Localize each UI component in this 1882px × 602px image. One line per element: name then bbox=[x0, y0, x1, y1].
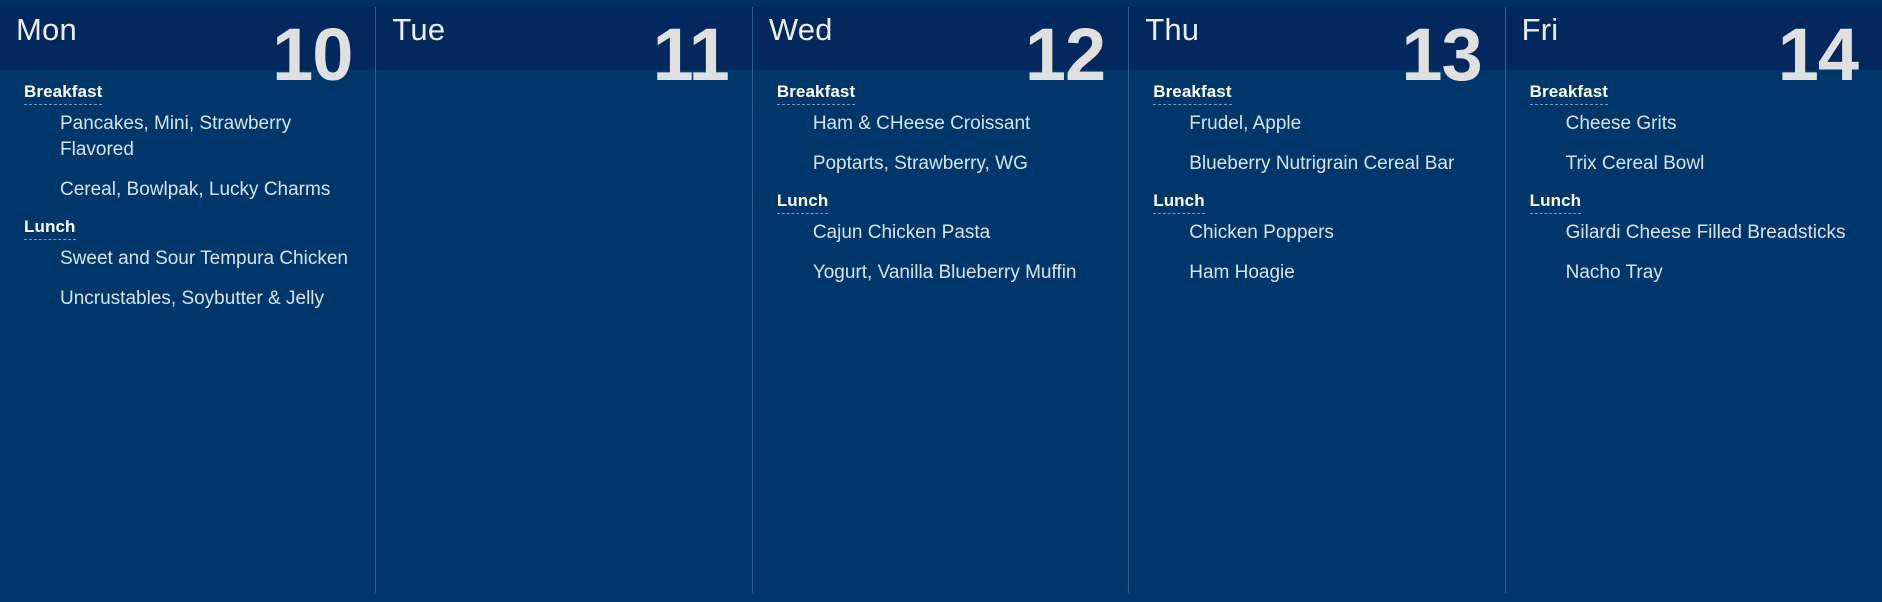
meal-block: BreakfastFrudel, AppleBlueberry Nutrigra… bbox=[1153, 82, 1491, 177]
meal-block: BreakfastPancakes, Mini, Strawberry Flav… bbox=[24, 82, 362, 203]
column-divider bbox=[752, 7, 753, 593]
day-number-label: 12 bbox=[1025, 18, 1105, 92]
menu-item: Cheese Grits bbox=[1530, 111, 1868, 137]
menu-item: Uncrustables, Soybutter & Jelly bbox=[24, 286, 362, 312]
menu-item: Ham Hoagie bbox=[1153, 260, 1491, 286]
week-menu-calendar: Mon10BreakfastPancakes, Mini, Strawberry… bbox=[0, 0, 1882, 602]
meals-container: BreakfastHam & CHeese CroissantPoptarts,… bbox=[753, 82, 1129, 300]
menu-item: Yogurt, Vanilla Blueberry Muffin bbox=[777, 260, 1115, 286]
day-name-label: Thu bbox=[1145, 12, 1199, 48]
day-number-label: 11 bbox=[653, 18, 729, 92]
day-name-label: Mon bbox=[16, 12, 77, 48]
meal-title: Breakfast bbox=[1153, 82, 1231, 105]
meal-title: Breakfast bbox=[777, 82, 855, 105]
menu-item: Gilardi Cheese Filled Breadsticks bbox=[1530, 220, 1868, 246]
menu-item: Cajun Chicken Pasta bbox=[777, 220, 1115, 246]
day-name-label: Wed bbox=[769, 12, 833, 48]
day-column-thu[interactable]: Thu13BreakfastFrudel, AppleBlueberry Nut… bbox=[1129, 0, 1505, 602]
meal-title: Breakfast bbox=[1530, 82, 1608, 105]
menu-item: Poptarts, Strawberry, WG bbox=[777, 151, 1115, 177]
meal-title: Lunch bbox=[1153, 191, 1205, 214]
menu-item-list: Frudel, AppleBlueberry Nutrigrain Cereal… bbox=[1153, 111, 1491, 177]
meal-block: LunchChicken PoppersHam Hoagie bbox=[1153, 191, 1491, 286]
column-divider bbox=[1505, 7, 1506, 593]
menu-item: Pancakes, Mini, Strawberry Flavored bbox=[24, 111, 362, 163]
day-name-label: Fri bbox=[1522, 12, 1559, 48]
meals-container: BreakfastCheese GritsTrix Cereal BowlLun… bbox=[1506, 82, 1882, 300]
meals-container: BreakfastFrudel, AppleBlueberry Nutrigra… bbox=[1129, 82, 1505, 300]
column-divider bbox=[1128, 7, 1129, 593]
meal-block: LunchSweet and Sour Tempura ChickenUncru… bbox=[24, 217, 362, 312]
menu-item-list: Sweet and Sour Tempura ChickenUncrustabl… bbox=[24, 246, 362, 312]
menu-item-list: Cajun Chicken PastaYogurt, Vanilla Blueb… bbox=[777, 220, 1115, 286]
day-column-tue[interactable]: Tue11 bbox=[376, 0, 752, 602]
menu-item: Trix Cereal Bowl bbox=[1530, 151, 1868, 177]
menu-item-list: Pancakes, Mini, Strawberry FlavoredCerea… bbox=[24, 111, 362, 203]
day-number-label: 10 bbox=[272, 18, 352, 92]
day-column-fri[interactable]: Fri14BreakfastCheese GritsTrix Cereal Bo… bbox=[1506, 0, 1882, 602]
menu-item-list: Ham & CHeese CroissantPoptarts, Strawber… bbox=[777, 111, 1115, 177]
day-number-label: 13 bbox=[1401, 18, 1481, 92]
meal-title: Breakfast bbox=[24, 82, 102, 105]
menu-item-list: Chicken PoppersHam Hoagie bbox=[1153, 220, 1491, 286]
meal-title: Lunch bbox=[24, 217, 76, 240]
top-edge-strip bbox=[0, 0, 1882, 7]
meal-block: BreakfastCheese GritsTrix Cereal Bowl bbox=[1530, 82, 1868, 177]
meal-block: BreakfastHam & CHeese CroissantPoptarts,… bbox=[777, 82, 1115, 177]
day-column-wed[interactable]: Wed12BreakfastHam & CHeese CroissantPopt… bbox=[753, 0, 1129, 602]
menu-item-list: Gilardi Cheese Filled BreadsticksNacho T… bbox=[1530, 220, 1868, 286]
menu-item: Blueberry Nutrigrain Cereal Bar bbox=[1153, 151, 1491, 177]
menu-item: Nacho Tray bbox=[1530, 260, 1868, 286]
menu-item-list: Cheese GritsTrix Cereal Bowl bbox=[1530, 111, 1868, 177]
day-number-label: 14 bbox=[1778, 18, 1858, 92]
day-name-label: Tue bbox=[392, 12, 445, 48]
menu-item: Chicken Poppers bbox=[1153, 220, 1491, 246]
menu-item: Ham & CHeese Croissant bbox=[777, 111, 1115, 137]
menu-item: Frudel, Apple bbox=[1153, 111, 1491, 137]
column-divider bbox=[375, 7, 376, 593]
meals-container: BreakfastPancakes, Mini, Strawberry Flav… bbox=[0, 82, 376, 326]
meal-title: Lunch bbox=[777, 191, 829, 214]
meal-block: LunchGilardi Cheese Filled BreadsticksNa… bbox=[1530, 191, 1868, 286]
menu-item: Sweet and Sour Tempura Chicken bbox=[24, 246, 362, 272]
meal-title: Lunch bbox=[1530, 191, 1582, 214]
meal-block: LunchCajun Chicken PastaYogurt, Vanilla … bbox=[777, 191, 1115, 286]
menu-item: Cereal, Bowlpak, Lucky Charms bbox=[24, 177, 362, 203]
day-column-mon[interactable]: Mon10BreakfastPancakes, Mini, Strawberry… bbox=[0, 0, 376, 602]
